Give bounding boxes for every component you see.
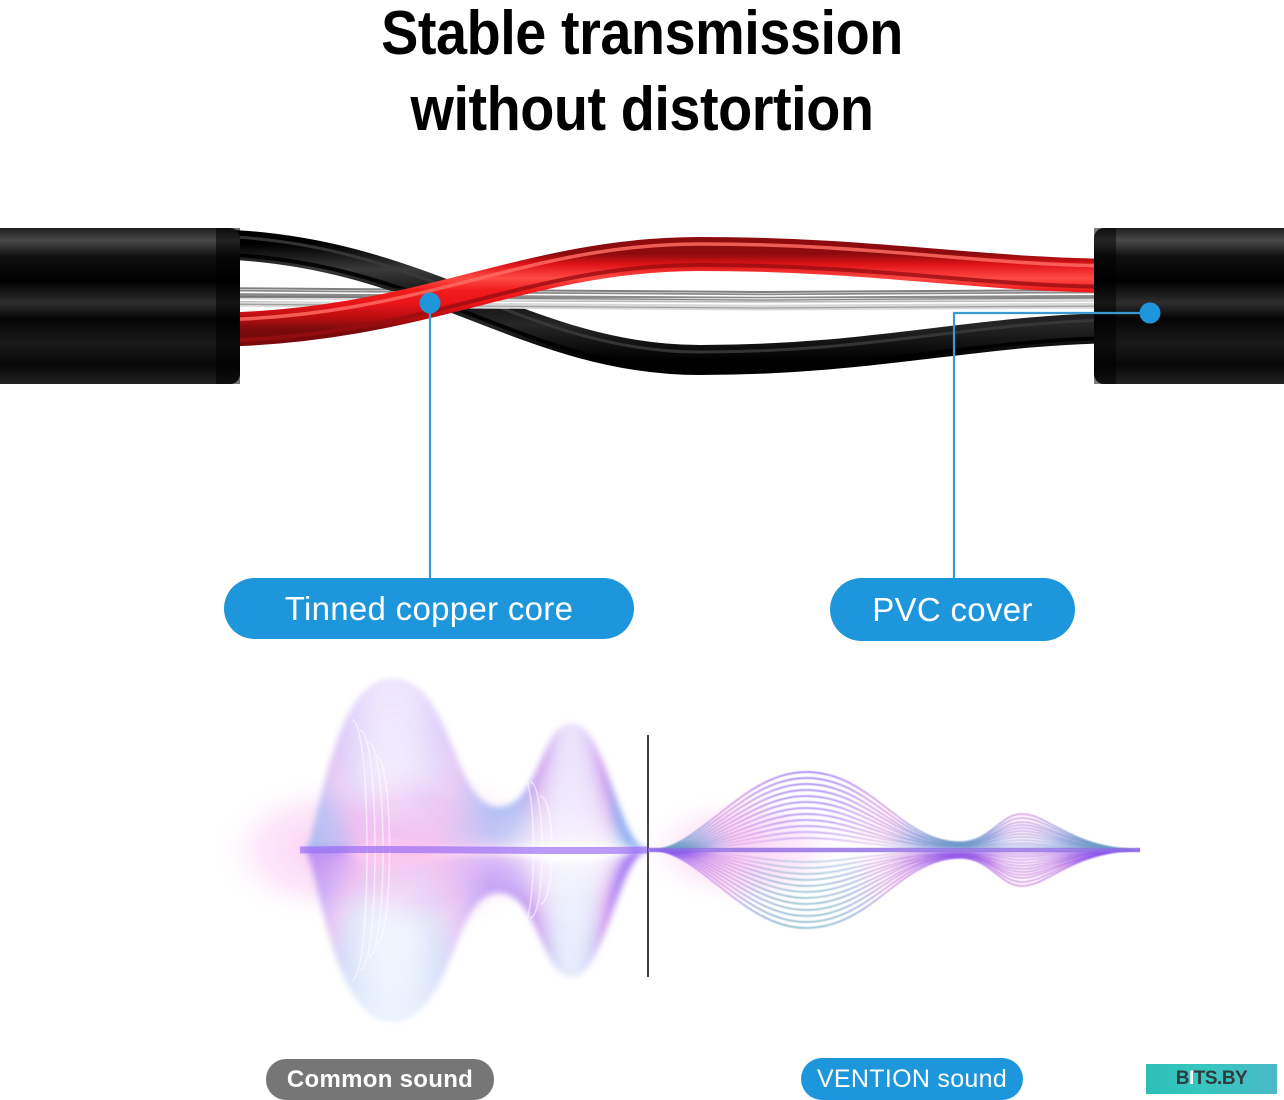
legend-label-vention-sound: VENTION sound [817, 1065, 1007, 1094]
watermark-text-before: B [1176, 1068, 1189, 1089]
page-title-line-1: Stable transmission [64, 0, 1220, 72]
watermark-text-after: TS.BY [1194, 1068, 1247, 1089]
callout-pill-pvc-cover[interactable]: PVC cover [830, 578, 1075, 641]
exposed-wire-bundle [200, 236, 1130, 370]
watermark-badge: BITS.BY [1146, 1064, 1277, 1094]
waveform-common-sound [210, 682, 648, 1018]
audio-cable-cutaway [0, 210, 1284, 400]
callout-label-pvc-cover: PVC cover [872, 591, 1032, 629]
infographic-page: Stable transmission without distortion [0, 0, 1284, 1100]
legend-pill-vention-sound[interactable]: VENTION sound [801, 1058, 1023, 1100]
sound-waveform-comparison [0, 660, 1284, 1040]
legend-label-common-sound: Common sound [287, 1066, 473, 1094]
legend-pill-common-sound[interactable]: Common sound [266, 1059, 494, 1100]
watermark-text: BITS.BY [1176, 1068, 1247, 1090]
page-title-line-2: without distortion [64, 72, 1220, 148]
right-pvc-jacket [1094, 228, 1284, 384]
callout-label-tinned-copper-core: Tinned copper core [285, 590, 574, 628]
waveform-vention-sound [634, 772, 1140, 928]
page-title: Stable transmission without distortion [64, 0, 1220, 148]
left-pvc-jacket [0, 228, 240, 384]
callout-pill-tinned-copper-core[interactable]: Tinned copper core [224, 578, 634, 639]
